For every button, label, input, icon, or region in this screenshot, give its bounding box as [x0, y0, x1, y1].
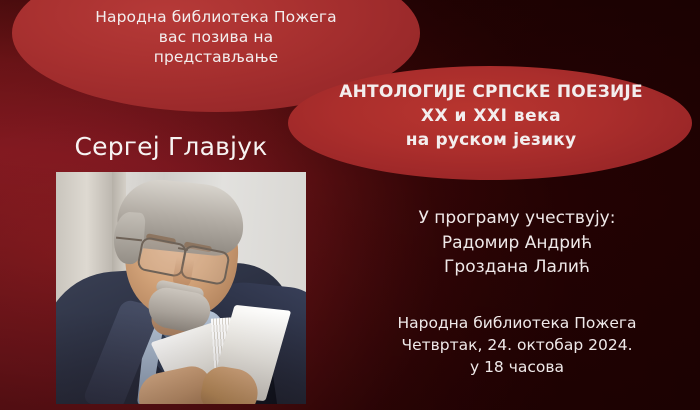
venue-name: Народна библиотека Пожега [342, 312, 692, 334]
speaker-name: Сергеј Главјук [26, 131, 316, 163]
event-title-line-1: АНТОЛОГИЈЕ СРПСКЕ ПОЕЗИЈЕ [300, 80, 682, 104]
program-participants: У програму учествују: Радомир Андрић Гро… [342, 206, 692, 280]
invitation-line-1: Народна библиотека Пожега [30, 8, 402, 28]
event-title: АНТОЛОГИЈЕ СРПСКЕ ПОЕЗИЈЕ XX и XXI века … [300, 80, 682, 152]
invitation-text: Народна библиотека Пожега вас позива на … [30, 8, 402, 67]
venue-and-date: Народна библиотека Пожега Четвртак, 24. … [342, 312, 692, 378]
participant-1: Радомир Андрић [342, 231, 692, 256]
event-time: у 18 часова [342, 356, 692, 378]
event-title-line-2: XX и XXI века [300, 104, 682, 128]
photo-bottom-shading [56, 172, 306, 404]
participant-2: Гроздана Лалић [342, 255, 692, 280]
invitation-line-2: вас позива на [30, 28, 402, 48]
program-heading: У програму учествују: [342, 206, 692, 231]
event-poster: Народна библиотека Пожега вас позива на … [0, 0, 700, 410]
event-title-line-3: на руском језику [300, 128, 682, 152]
speaker-photo [56, 172, 306, 404]
event-date: Четвртак, 24. октобар 2024. [342, 334, 692, 356]
invitation-line-3: представљање [30, 48, 402, 68]
